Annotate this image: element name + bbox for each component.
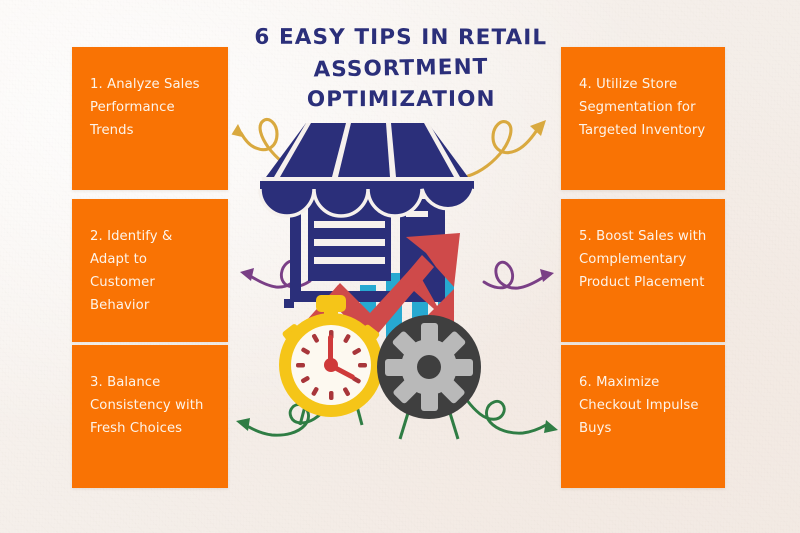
gear-icon <box>377 315 481 439</box>
title-line-1: 6 Easy Tips in Retail <box>240 22 562 54</box>
tip-box-6-label: 6. Maximize Checkout Impulse Buys <box>579 375 699 436</box>
retail-store-illustration <box>228 95 578 445</box>
tip-box-3-label: 3. Balance Consistency with Fresh Choice… <box>90 375 204 436</box>
tip-box-4[interactable]: 4. Utilize Store Segmentation for Target… <box>561 47 725 190</box>
tip-box-4-label: 4. Utilize Store Segmentation for Target… <box>579 77 705 138</box>
tip-box-3[interactable]: 3. Balance Consistency with Fresh Choice… <box>72 345 228 488</box>
tip-box-2[interactable]: 2. Identify & Adapt to Customer Behavior <box>72 199 228 342</box>
tip-box-1-label: 1. Analyze Sales Performance Trends <box>90 77 200 138</box>
infographic-canvas: 6 Easy Tips in Retail Assortment Optimiz… <box>0 0 800 533</box>
tip-box-2-label: 2. Identify & Adapt to Customer Behavior <box>90 229 172 313</box>
tip-box-5-label: 5. Boost Sales with Complementary Produc… <box>579 229 706 290</box>
tip-box-6[interactable]: 6. Maximize Checkout Impulse Buys <box>561 345 725 488</box>
title-line-2: Assortment <box>240 50 562 87</box>
tip-box-1[interactable]: 1. Analyze Sales Performance Trends <box>72 47 228 190</box>
tip-box-5[interactable]: 5. Boost Sales with Complementary Produc… <box>561 199 725 342</box>
